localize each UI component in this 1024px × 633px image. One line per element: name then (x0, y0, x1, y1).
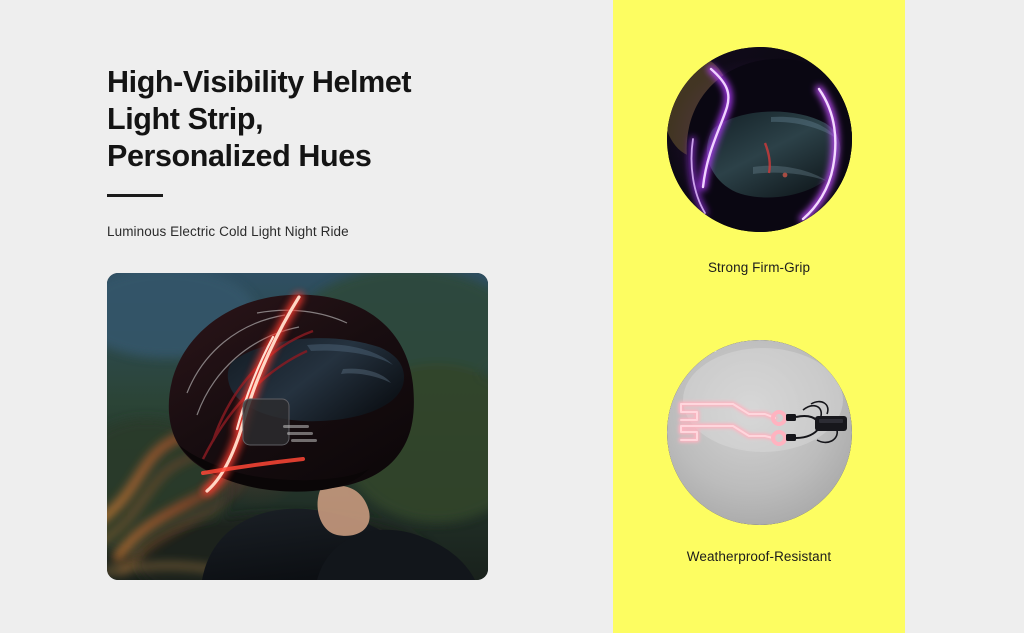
hero-illustration (107, 273, 488, 580)
feature-label: Weatherproof-Resistant (613, 549, 905, 564)
left-content-column: High-Visibility Helmet Light Strip, Pers… (107, 0, 507, 633)
purple-helmet-illustration (667, 47, 852, 232)
helmet-night-ride-photo (107, 273, 488, 580)
helmet-purple-glow-photo (667, 47, 852, 232)
page-subtitle: Luminous Electric Cold Light Night Ride (107, 222, 507, 242)
feature-item-strong-firm-grip: Strong Firm-Grip (613, 47, 905, 275)
page-title: High-Visibility Helmet Light Strip, Pers… (107, 64, 507, 175)
features-panel: Strong Firm-Grip (613, 0, 905, 633)
feature-item-weatherproof-resistant: nGL Weatherproof-Resistant (613, 340, 905, 564)
light-strip-kit-photo: nGL (667, 340, 852, 525)
product-banner: High-Visibility Helmet Light Strip, Pers… (0, 0, 1024, 633)
light-strip-kit-illustration (667, 340, 852, 525)
heading-divider (107, 194, 163, 197)
feature-label: Strong Firm-Grip (613, 260, 905, 275)
